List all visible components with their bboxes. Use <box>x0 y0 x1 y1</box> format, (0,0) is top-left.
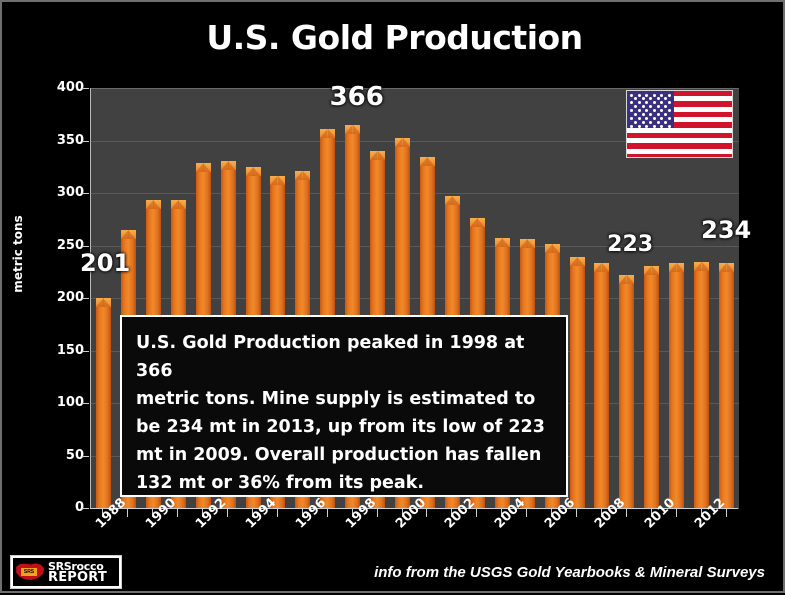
gridline-200 <box>91 298 739 299</box>
bar-cap-bevel <box>121 230 136 239</box>
annotation-line-3: be 234 mt in 2013, up from its low of 22… <box>136 413 552 441</box>
y-axis-label-50: 50 <box>38 448 84 463</box>
bar-2013 <box>719 263 734 509</box>
y-axis-label-250: 250 <box>38 238 84 253</box>
flag-star <box>642 113 645 116</box>
logo-inner: SRS SRSrocco REPORT <box>13 558 119 586</box>
flag-star <box>664 121 667 124</box>
bar-cap-bevel <box>669 263 684 272</box>
x-tick-2011 <box>676 509 677 517</box>
data-label-first-value: 201 <box>80 249 130 277</box>
bar-cap-bevel <box>470 218 485 227</box>
bar-cap-bevel <box>345 125 360 134</box>
flag-star <box>630 125 633 128</box>
gridline-400 <box>91 88 739 89</box>
bar-cap-bevel <box>445 196 460 205</box>
flag-star <box>645 94 648 97</box>
x-tick-2001 <box>426 509 427 517</box>
bar-1988 <box>96 298 111 509</box>
flag-star <box>645 109 648 112</box>
chart-frame: U.S. Gold Production 4003503002502001501… <box>0 0 785 593</box>
flag-star <box>660 101 663 104</box>
flag-star <box>634 97 637 100</box>
flag-star <box>630 101 633 104</box>
x-tick-2005 <box>526 509 527 517</box>
annotation-line-5: 132 mt or 36% from its peak. <box>136 469 552 497</box>
flag-stripe <box>627 143 732 148</box>
y-tick-400 <box>82 88 89 89</box>
annotation-line-4: mt in 2009. Overall production has falle… <box>136 441 552 469</box>
flag-star <box>668 117 671 120</box>
flag-star <box>649 113 652 116</box>
x-tick-2007 <box>576 509 577 517</box>
bar-cap-bevel <box>196 163 211 172</box>
flag-star <box>638 125 641 128</box>
flag-star <box>657 97 660 100</box>
logo-map-badge: SRS <box>21 568 37 576</box>
flag-star <box>649 97 652 100</box>
flag-star <box>653 117 656 120</box>
flag-star <box>660 125 663 128</box>
us-flag-icon <box>626 90 733 158</box>
flag-star <box>668 125 671 128</box>
y-axis-label-150: 150 <box>38 343 84 358</box>
flag-star <box>657 121 660 124</box>
annotation-line-2: metric tons. Mine supply is estimated to <box>136 385 552 413</box>
bar-2009 <box>619 275 634 509</box>
x-tick-2003 <box>476 509 477 517</box>
bar-cap-bevel <box>320 129 335 138</box>
flag-star <box>638 101 641 104</box>
x-tick-1995 <box>277 509 278 517</box>
flag-star <box>642 105 645 108</box>
flag-stripe <box>627 133 732 138</box>
y-tick-50 <box>82 456 89 457</box>
y-axis-label-400: 400 <box>38 80 84 95</box>
bar-2010 <box>644 266 659 509</box>
flag-star <box>657 105 660 108</box>
x-tick-1993 <box>227 509 228 517</box>
flag-star <box>668 94 671 97</box>
flag-star <box>645 117 648 120</box>
y-axis-title: metric tons <box>11 194 25 314</box>
bar-cap-bevel <box>370 151 385 160</box>
flag-star <box>645 125 648 128</box>
x-tick-1997 <box>327 509 328 517</box>
y-axis-label-100: 100 <box>38 395 84 410</box>
flag-star <box>634 105 637 108</box>
flag-canton <box>627 91 674 128</box>
us-map-icon: SRS <box>15 561 45 583</box>
flag-star <box>664 105 667 108</box>
gridline-300 <box>91 193 739 194</box>
flag-star <box>668 101 671 104</box>
data-label-peak-value: 366 <box>330 82 384 112</box>
flag-star <box>645 101 648 104</box>
logo-line-2: REPORT <box>48 572 107 583</box>
x-tick-1989 <box>127 509 128 517</box>
flag-star <box>634 113 637 116</box>
bar-cap-bevel <box>221 161 236 170</box>
bar-cap-bevel <box>594 263 609 272</box>
srsrocco-report-logo: SRS SRSrocco REPORT <box>10 555 122 589</box>
y-axis: 400350300250200150100500 <box>26 2 84 595</box>
flag-star <box>653 94 656 97</box>
y-axis-label-350: 350 <box>38 133 84 148</box>
flag-star <box>638 109 641 112</box>
flag-star <box>660 94 663 97</box>
bar-2011 <box>669 263 684 509</box>
bar-2007 <box>570 257 585 509</box>
flag-star <box>668 109 671 112</box>
logo-text: SRSrocco REPORT <box>48 561 107 583</box>
y-tick-250 <box>82 246 89 247</box>
bar-cap-bevel <box>644 266 659 275</box>
flag-star <box>634 121 637 124</box>
x-tick-2009 <box>626 509 627 517</box>
flag-star <box>630 109 633 112</box>
x-tick-2013 <box>726 509 727 517</box>
bar-cap-bevel <box>520 239 535 248</box>
flag-star <box>653 109 656 112</box>
bar-cap-bevel <box>395 138 410 147</box>
bar-cap-bevel <box>420 157 435 166</box>
bar-cap-bevel <box>146 200 161 209</box>
y-axis-label-200: 200 <box>38 290 84 305</box>
bar-cap-bevel <box>694 262 709 271</box>
bar-cap-bevel <box>295 171 310 180</box>
bar-2012 <box>694 262 709 509</box>
x-tick-1999 <box>377 509 378 517</box>
bar-cap-bevel <box>545 244 560 253</box>
bar-2008 <box>594 263 609 509</box>
flag-star <box>642 97 645 100</box>
flag-star <box>653 125 656 128</box>
y-tick-150 <box>82 351 89 352</box>
y-axis-label-0: 0 <box>38 500 84 515</box>
flag-star <box>630 117 633 120</box>
flag-star <box>649 121 652 124</box>
x-tick-1991 <box>177 509 178 517</box>
annotation-textbox: U.S. Gold Production peaked in 1998 at 3… <box>120 315 568 497</box>
flag-star <box>660 117 663 120</box>
flag-star <box>642 121 645 124</box>
y-tick-300 <box>82 193 89 194</box>
bar-cap-bevel <box>619 275 634 284</box>
flag-star <box>649 105 652 108</box>
flag-star <box>657 113 660 116</box>
flag-star <box>660 109 663 112</box>
flag-stripe <box>627 154 732 158</box>
flag-star <box>630 94 633 97</box>
bar-cap-bevel <box>270 176 285 185</box>
y-axis-label-300: 300 <box>38 185 84 200</box>
flag-star <box>638 117 641 120</box>
bar-cap-bevel <box>719 263 734 272</box>
data-label-low-value: 223 <box>607 232 653 257</box>
bar-cap-bevel <box>495 238 510 247</box>
chart-title: U.S. Gold Production <box>2 18 785 57</box>
flag-star <box>664 97 667 100</box>
y-tick-350 <box>82 141 89 142</box>
flag-star <box>664 113 667 116</box>
flag-star <box>638 94 641 97</box>
bar-cap-bevel <box>171 200 186 209</box>
bar-cap-bevel <box>96 298 111 307</box>
annotation-line-1: U.S. Gold Production peaked in 1998 at 3… <box>136 329 552 385</box>
y-tick-100 <box>82 403 89 404</box>
bar-cap-bevel <box>246 167 261 176</box>
source-caption: info from the USGS Gold Yearbooks & Mine… <box>374 564 765 581</box>
data-label-last-value: 234 <box>701 216 751 244</box>
y-tick-0 <box>82 508 89 509</box>
y-tick-200 <box>82 298 89 299</box>
flag-star <box>653 101 656 104</box>
bar-cap-bevel <box>570 257 585 266</box>
